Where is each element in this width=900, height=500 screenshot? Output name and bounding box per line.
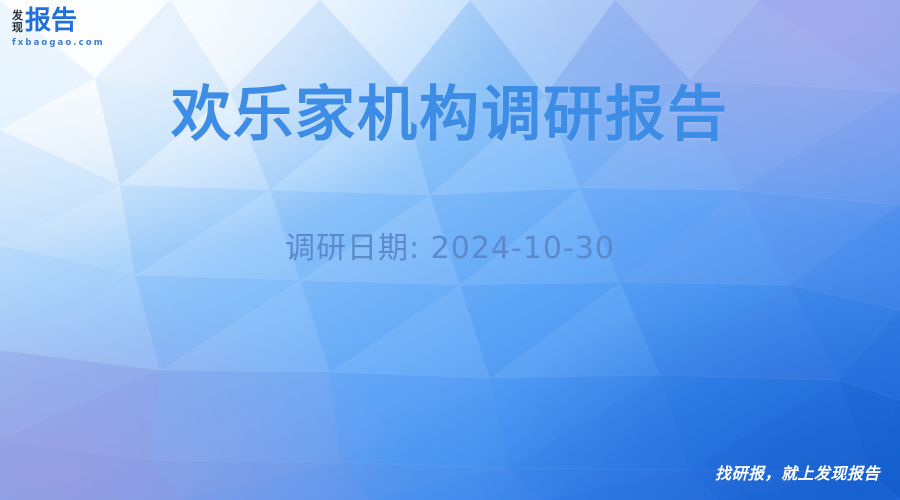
logo-domain-text: fxbaogao.com [12,38,105,48]
logo-marks: 发 现 报告 [12,8,77,35]
brand-logo[interactable]: 发 现 报告 fxbaogao.com [12,8,77,35]
logo-stacked-characters: 发 现 [12,10,23,35]
logo-wordmark: 报告 [25,8,77,35]
title-block: 欢乐家机构调研报告 [0,78,900,152]
report-cover: 发 现 报告 fxbaogao.com 欢乐家机构调研报告 调研日期: 2024… [0,0,900,500]
page-title: 欢乐家机构调研报告 [0,78,900,152]
footer-slogan: 找研报，就上发现报告 [715,464,880,484]
survey-date: 调研日期: 2024-10-30 [0,228,900,270]
logo-char-bottom: 现 [12,22,23,34]
